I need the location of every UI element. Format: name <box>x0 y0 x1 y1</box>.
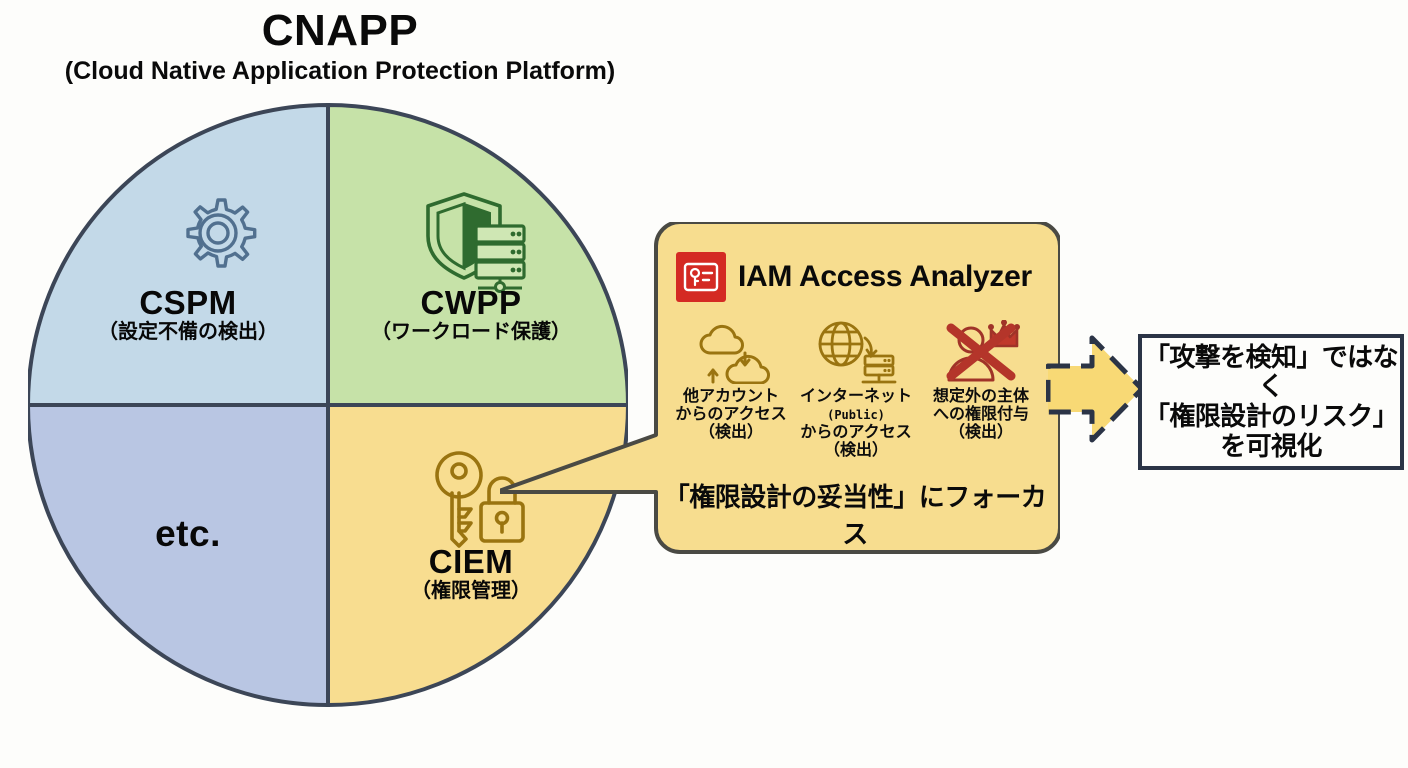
title-block: CNAPP (Cloud Native Application Protecti… <box>0 8 680 86</box>
result-text: 「攻撃を検知」ではなく 「権限設計のリスク」 を可視化 <box>1142 343 1400 462</box>
feature-line-3: （検出） <box>920 424 1042 442</box>
feature-list: 他アカウント からのアクセス （検出） <box>670 318 1042 460</box>
page-title: CNAPP <box>0 8 680 54</box>
result-line-3: を可視化 <box>1142 432 1400 462</box>
feature-line-1-small: (Public) <box>827 408 885 422</box>
page-subtitle: (Cloud Native Application Protection Pla… <box>0 58 680 86</box>
quadrant-etc[interactable] <box>28 405 328 705</box>
iam-access-analyzer-callout: IAM Access Analyzer 他アカウント <box>656 222 1054 552</box>
feature-line-3: （検出） <box>670 424 792 442</box>
iam-service-title: IAM Access Analyzer <box>738 260 1032 294</box>
callout-header: IAM Access Analyzer <box>676 252 1032 302</box>
feature-line-3: （検出） <box>795 442 917 460</box>
gear-icon <box>168 188 268 293</box>
feature-line-2: からのアクセス <box>670 406 792 424</box>
iam-access-analyzer-icon <box>676 252 726 302</box>
result-box: 「攻撃を検知」ではなく 「権限設計のリスク」 を可視化 <box>1138 334 1404 470</box>
feature-text: 想定外の主体 への権限付与 （検出） <box>920 388 1042 442</box>
feature-text: インターネット(Public) からのアクセス （検出） <box>795 388 917 460</box>
diagram-canvas: CNAPP (Cloud Native Application Protecti… <box>0 0 1408 768</box>
feature-line-1: インターネット(Public) <box>795 388 917 424</box>
feature-item[interactable]: 想定外の主体 への権限付与 （検出） <box>920 318 1042 460</box>
feature-text: 他アカウント からのアクセス （検出） <box>670 388 792 442</box>
crowned-user-blocked-icon <box>920 318 1042 386</box>
feature-line-1: 想定外の主体 <box>920 388 1042 406</box>
feature-item[interactable]: インターネット(Public) からのアクセス （検出） <box>795 318 917 460</box>
result-line-2: 「権限設計のリスク」 <box>1142 402 1400 432</box>
feature-line-2: への権限付与 <box>920 406 1042 424</box>
result-line-1: 「攻撃を検知」ではなく <box>1142 343 1400 402</box>
dashed-block-arrow-right-icon <box>1046 330 1146 453</box>
feature-item[interactable]: 他アカウント からのアクセス （検出） <box>670 318 792 460</box>
feature-line-2: からのアクセス <box>795 424 917 442</box>
globe-server-icon <box>795 318 917 386</box>
focus-statement: 「権限設計の妥当性」にフォーカス <box>656 477 1054 551</box>
feature-line-1: 他アカウント <box>670 388 792 406</box>
cloud-exchange-icon <box>670 318 792 386</box>
